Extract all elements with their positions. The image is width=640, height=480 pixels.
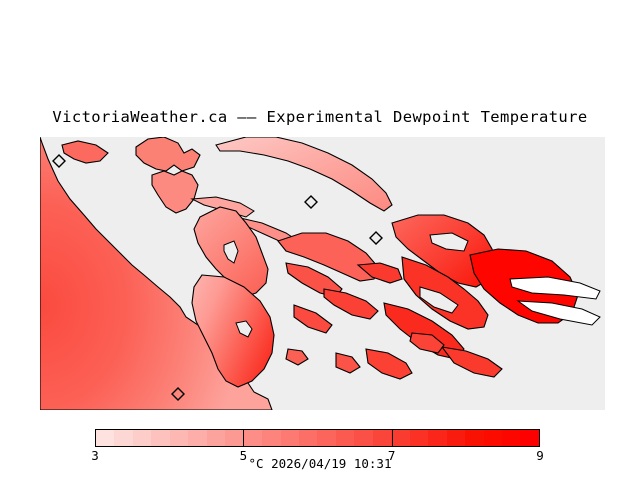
colorbar-step-9 xyxy=(262,430,280,446)
colorbar-step-15 xyxy=(373,430,391,446)
page-title: VictoriaWeather.ca —— Experimental Dewpo… xyxy=(0,108,640,126)
colorbar-tick-7 xyxy=(392,429,393,447)
colorbar-step-11 xyxy=(299,430,317,446)
colorbar-step-22 xyxy=(502,430,520,446)
colorbar-step-21 xyxy=(484,430,502,446)
colorbar-step-2 xyxy=(133,430,151,446)
colorbar-gradient xyxy=(95,429,540,447)
colorbar-step-0 xyxy=(96,430,114,446)
colorbar-step-23 xyxy=(520,430,538,446)
colorbar-step-10 xyxy=(281,430,299,446)
colorbar-step-14 xyxy=(354,430,372,446)
colorbar-step-7 xyxy=(225,430,243,446)
colorbar-step-8 xyxy=(244,430,262,446)
map-canvas[interactable] xyxy=(40,137,605,410)
colorbar-step-18 xyxy=(428,430,446,446)
colorbar-tick-5 xyxy=(243,429,244,447)
colorbar-step-13 xyxy=(336,430,354,446)
colorbar-step-1 xyxy=(114,430,132,446)
colorbar-step-19 xyxy=(447,430,465,446)
colorbar[interactable]: 3579 xyxy=(95,429,540,447)
colorbar-step-17 xyxy=(410,430,428,446)
colorbar-step-5 xyxy=(188,430,206,446)
dewpoint-contour-map xyxy=(40,137,605,410)
colorbar-step-16 xyxy=(391,430,409,446)
colorbar-caption: °C 2026/04/19 10:31 xyxy=(0,456,640,471)
colorbar-step-12 xyxy=(317,430,335,446)
colorbar-step-6 xyxy=(207,430,225,446)
colorbar-step-3 xyxy=(151,430,169,446)
colorbar-step-20 xyxy=(465,430,483,446)
colorbar-step-4 xyxy=(170,430,188,446)
